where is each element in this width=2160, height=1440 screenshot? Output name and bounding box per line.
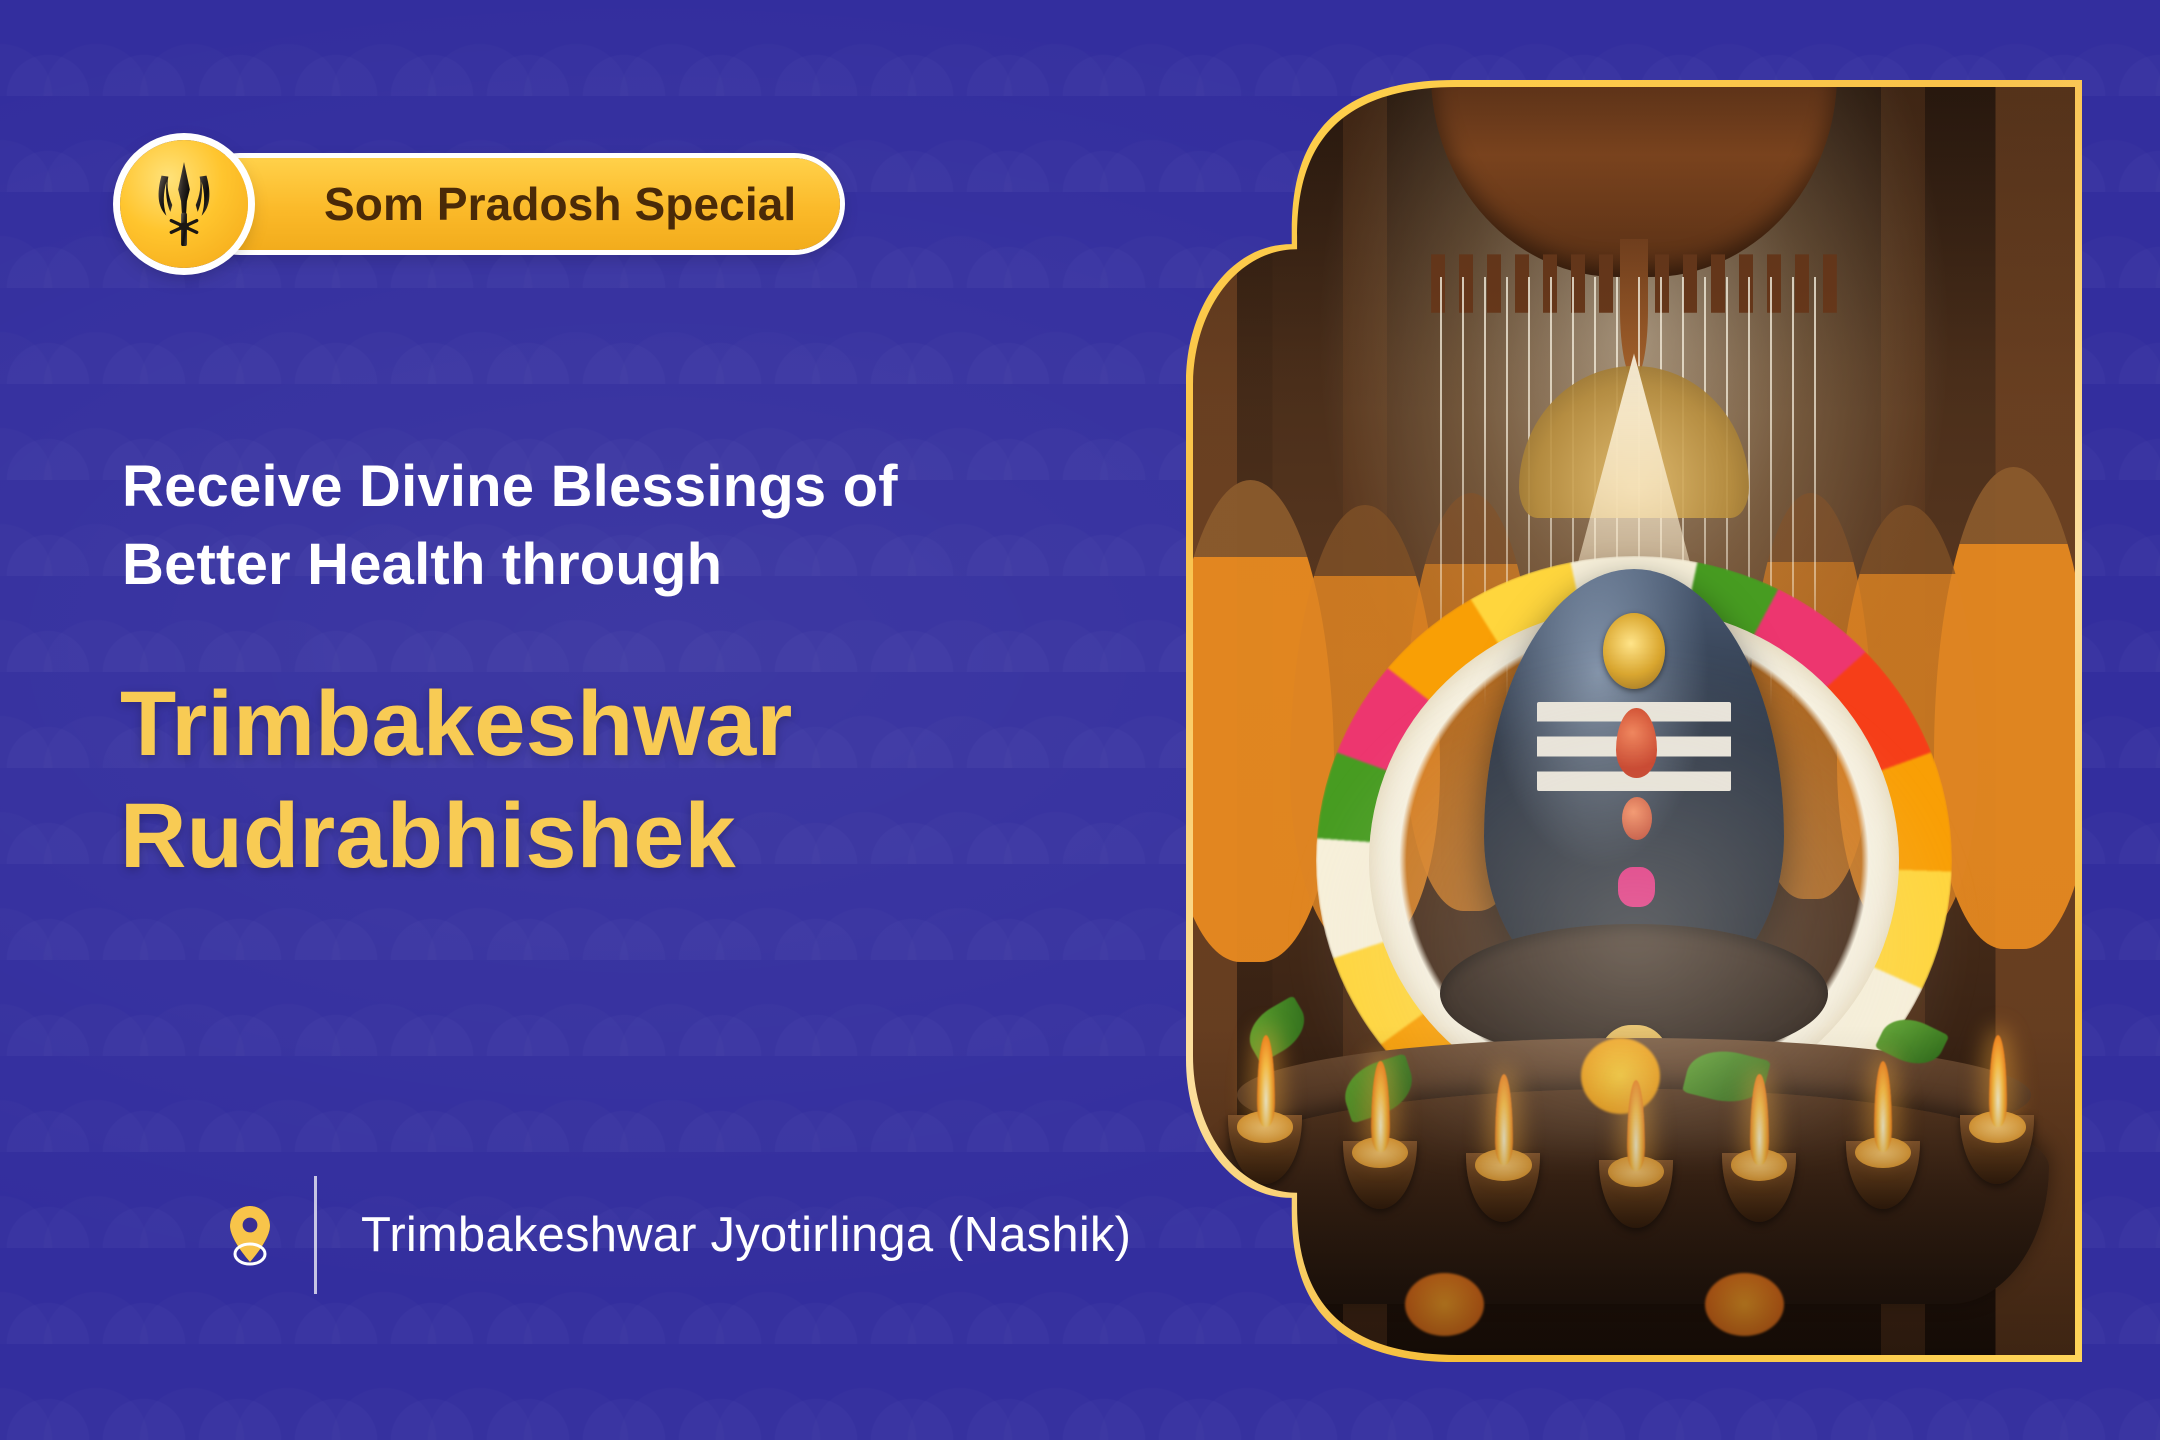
scene-tint <box>1193 87 2075 1355</box>
trishul-icon <box>120 140 248 268</box>
location-row: Trimbakeshwar Jyotirlinga (Nashik) <box>224 1175 1131 1295</box>
content-column: Som Pradosh Special <box>120 0 1180 1440</box>
page-title: Trimbakeshwar Rudrabhishek <box>120 668 1130 892</box>
map-pin-icon <box>224 1204 276 1266</box>
badge-pill: Som Pradosh Special <box>194 158 840 250</box>
arch-frame-inner <box>1193 87 2075 1355</box>
location-divider <box>314 1176 317 1294</box>
subheading: Receive Divine Blessings of Better Healt… <box>122 448 1082 603</box>
title-line-2: Rudrabhishek <box>120 780 1130 892</box>
ritual-image-panel <box>1186 80 2082 1362</box>
rudrabhishek-photo <box>1193 87 2075 1355</box>
promo-banner: Som Pradosh Special <box>0 0 2160 1440</box>
title-line-1: Trimbakeshwar <box>120 668 1130 780</box>
badge-label: Som Pradosh Special <box>324 177 796 231</box>
location-label: Trimbakeshwar Jyotirlinga (Nashik) <box>361 1207 1131 1263</box>
subheading-line-1: Receive Divine Blessings of <box>122 448 1082 526</box>
subheading-line-2: Better Health through <box>122 526 1082 604</box>
